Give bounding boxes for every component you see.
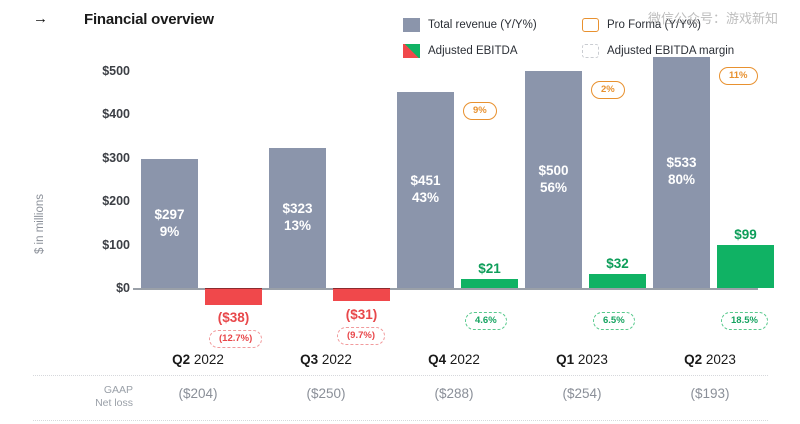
bar-adjusted-ebitda-positive[interactable] bbox=[461, 279, 518, 288]
x-label-quarter: Q3 bbox=[300, 352, 318, 367]
gaap-net-loss-row: GAAP Net loss ($204)($250)($288)($254)($… bbox=[33, 375, 768, 421]
bar-label-total-revenue: $2979% bbox=[141, 206, 198, 240]
revenue-growth: 43% bbox=[397, 189, 454, 206]
x-axis-label: Q3 2022 bbox=[261, 352, 391, 367]
bar-label-adjusted-ebitda: $32 bbox=[589, 255, 646, 272]
x-axis-label: Q4 2022 bbox=[389, 352, 519, 367]
revenue-growth: 80% bbox=[653, 171, 710, 188]
legend-item-pro-forma: Pro Forma (Y/Y%) bbox=[582, 14, 734, 36]
bar-group: $32313%($31)(9.7%) bbox=[261, 70, 391, 360]
bar-label-total-revenue: $50056% bbox=[525, 162, 582, 196]
bar-label-total-revenue: $32313% bbox=[269, 200, 326, 234]
legend-item-adjusted-ebitda: Adjusted EBITDA bbox=[403, 40, 537, 62]
legend-swatch-ebitda-margin bbox=[582, 44, 599, 58]
bar-group: $50056%$322%6.5% bbox=[517, 70, 647, 360]
gaap-net-loss-value: ($254) bbox=[517, 386, 647, 401]
gaap-net-loss-title: GAAP Net loss bbox=[58, 384, 133, 410]
badge-pro-forma: 11% bbox=[719, 67, 758, 85]
badge-ebitda-margin: 4.6% bbox=[465, 312, 507, 330]
legend-swatch-adjusted-ebitda bbox=[403, 44, 420, 58]
y-tick-500: $500 bbox=[78, 64, 130, 78]
legend-label-total-revenue: Total revenue (Y/Y%) bbox=[428, 19, 537, 31]
x-label-year: 2022 bbox=[190, 352, 224, 367]
x-label-year: 2023 bbox=[574, 352, 608, 367]
badge-ebitda-margin: (9.7%) bbox=[337, 327, 385, 345]
bar-adjusted-ebitda-positive[interactable] bbox=[589, 274, 646, 288]
badge-ebitda-margin: 18.5% bbox=[721, 312, 768, 330]
badge-pro-forma: 9% bbox=[463, 102, 497, 120]
y-tick-100: $100 bbox=[78, 238, 130, 252]
gaap-title-line1: GAAP bbox=[58, 384, 133, 397]
gaap-net-loss-value: ($204) bbox=[133, 386, 263, 401]
gaap-net-loss-value: ($193) bbox=[645, 386, 775, 401]
revenue-value: $500 bbox=[525, 162, 582, 179]
x-label-year: 2023 bbox=[702, 352, 736, 367]
revenue-growth: 13% bbox=[269, 217, 326, 234]
bar-adjusted-ebitda-negative[interactable] bbox=[333, 288, 390, 301]
x-label-quarter: Q4 bbox=[428, 352, 446, 367]
bar-chart: $ in millions $0$100$200$300$400$500 $29… bbox=[0, 70, 800, 360]
y-tick-400: $400 bbox=[78, 107, 130, 121]
badge-pro-forma: 2% bbox=[591, 81, 625, 99]
x-label-year: 2022 bbox=[446, 352, 480, 367]
x-axis-label: Q2 2023 bbox=[645, 352, 775, 367]
bar-label-adjusted-ebitda: $99 bbox=[717, 226, 774, 243]
revenue-value: $533 bbox=[653, 154, 710, 171]
gaap-net-loss-value: ($250) bbox=[261, 386, 391, 401]
revenue-growth: 56% bbox=[525, 179, 582, 196]
legend-label-ebitda-margin: Adjusted EBITDA margin bbox=[607, 45, 734, 57]
legend-swatch-pro-forma bbox=[582, 18, 599, 32]
y-tick-200: $200 bbox=[78, 194, 130, 208]
chart-legend: Total revenue (Y/Y%) Adjusted EBITDA Pro… bbox=[400, 14, 800, 66]
x-label-quarter: Q2 bbox=[172, 352, 190, 367]
legend-label-pro-forma: Pro Forma (Y/Y%) bbox=[607, 19, 701, 31]
revenue-value: $323 bbox=[269, 200, 326, 217]
revenue-value: $297 bbox=[141, 206, 198, 223]
x-label-quarter: Q1 bbox=[556, 352, 574, 367]
bar-label-total-revenue: $53380% bbox=[653, 154, 710, 188]
bar-label-adjusted-ebitda: ($38) bbox=[205, 309, 262, 326]
bar-label-adjusted-ebitda: $21 bbox=[461, 260, 518, 277]
bar-label-total-revenue: $45143% bbox=[397, 172, 454, 206]
y-tick-0: $0 bbox=[78, 281, 130, 295]
arrow-right-icon[interactable]: → bbox=[33, 11, 48, 26]
y-tick-300: $300 bbox=[78, 151, 130, 165]
x-label-year: 2022 bbox=[318, 352, 352, 367]
y-axis-title: $ in millions bbox=[34, 164, 46, 284]
bar-group: $53380%$9911%18.5% bbox=[645, 70, 775, 360]
bar-adjusted-ebitda-positive[interactable] bbox=[717, 245, 774, 288]
badge-ebitda-margin: (12.7%) bbox=[209, 330, 262, 348]
legend-swatch-total-revenue bbox=[403, 18, 420, 32]
page-title: Financial overview bbox=[84, 11, 214, 28]
bar-adjusted-ebitda-negative[interactable] bbox=[205, 288, 262, 304]
revenue-value: $451 bbox=[397, 172, 454, 189]
bar-group: $2979%($38)(12.7%) bbox=[133, 70, 263, 360]
bar-label-adjusted-ebitda: ($31) bbox=[333, 306, 390, 323]
legend-item-total-revenue: Total revenue (Y/Y%) bbox=[403, 14, 537, 36]
x-axis-label: Q2 2022 bbox=[133, 352, 263, 367]
gaap-title-line2: Net loss bbox=[58, 397, 133, 410]
gaap-net-loss-value: ($288) bbox=[389, 386, 519, 401]
badge-ebitda-margin: 6.5% bbox=[593, 312, 635, 330]
bar-group: $45143%$219%4.6% bbox=[389, 70, 519, 360]
legend-label-adjusted-ebitda: Adjusted EBITDA bbox=[428, 45, 517, 57]
x-axis-label: Q1 2023 bbox=[517, 352, 647, 367]
x-label-quarter: Q2 bbox=[684, 352, 702, 367]
revenue-growth: 9% bbox=[141, 223, 198, 240]
